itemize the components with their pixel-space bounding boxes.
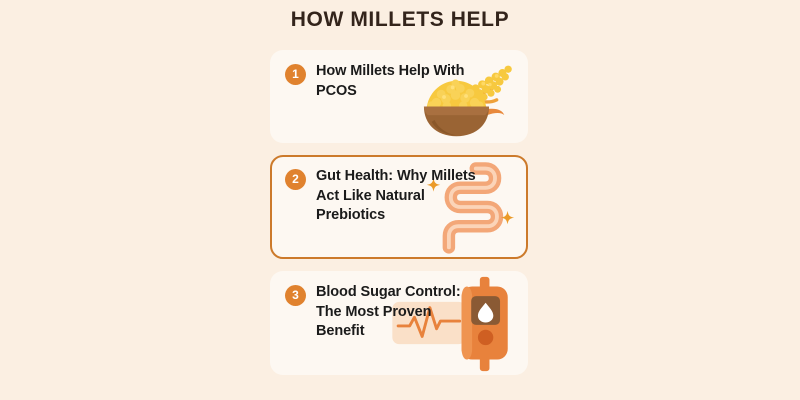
card-item-3[interactable]: 3 Blood Sugar Control: The Most Proven B… [270, 271, 528, 375]
card-number-badge: 3 [285, 285, 306, 306]
card-list: 1 How Millets Help With PCOS [270, 50, 528, 387]
device-button [478, 330, 493, 345]
page-title: HOW MILLETS HELP [0, 8, 800, 32]
infographic-page: HOW MILLETS HELP 1 How Millets Help With… [0, 0, 800, 400]
card-title: Blood Sugar Control: The Most Proven Ben… [316, 283, 476, 342]
blood-drop-icon [478, 303, 493, 323]
card-title: Gut Health: Why Millets Act Like Natural… [316, 167, 476, 226]
card-number-badge: 2 [285, 169, 306, 190]
card-title: How Millets Help With PCOS [316, 62, 476, 101]
card-number-badge: 1 [285, 64, 306, 85]
card-item-2[interactable]: 2 Gut Health: Why Millets Act Like Natur… [270, 155, 528, 259]
card-item-1[interactable]: 1 How Millets Help With PCOS [270, 50, 528, 143]
